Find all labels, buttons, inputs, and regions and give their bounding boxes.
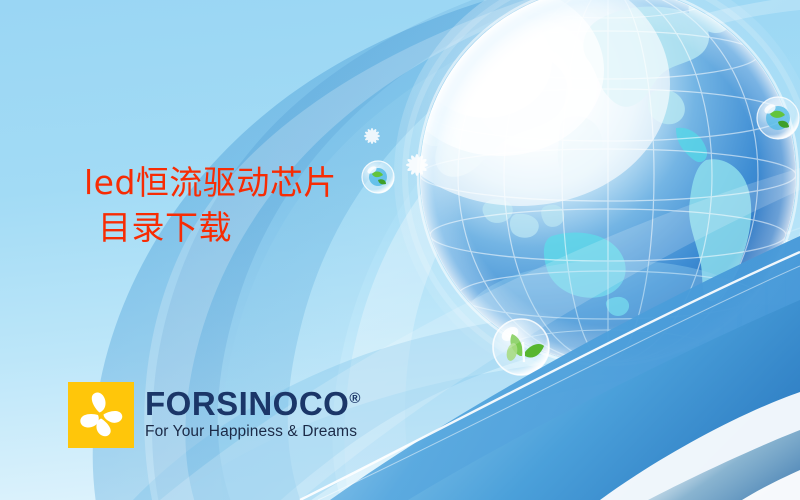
asterisk-flower-icon: [406, 154, 428, 176]
bubble-with-globe-edge: [757, 97, 799, 139]
pinwheel-flower-icon: [68, 382, 134, 448]
bubble-with-globe-small: [362, 161, 394, 193]
logo-text-block: FORSINOCO® For Your Happiness & Dreams: [145, 382, 360, 441]
globe-grid: [420, 0, 796, 370]
promo-banner: led恒流驱动芯片 目录下载 FORSINOCO® For Your Happi…: [0, 0, 800, 500]
headline-line-2: 目录下载: [84, 207, 337, 249]
logo-wordmark: FORSINOCO®: [145, 387, 360, 420]
logo-tagline: For Your Happiness & Dreams: [145, 423, 360, 441]
company-logo[interactable]: FORSINOCO® For Your Happiness & Dreams: [68, 382, 360, 448]
asterisk-flower-icon-small: [364, 128, 380, 144]
bubble-with-leaf-large: [493, 319, 549, 375]
forsinoco-logo-mark: [68, 382, 134, 448]
city-skyline-silhouette: [624, 150, 800, 346]
continents: [419, 0, 751, 316]
world-globe: [370, 0, 800, 389]
light-streaks: [548, 228, 800, 356]
logo-wordmark-text: FORSINOCO: [145, 385, 349, 422]
headline-text: led恒流驱动芯片 目录下载: [84, 162, 337, 249]
headline-line-1: led恒流驱动芯片: [84, 162, 337, 204]
registered-trademark-icon: ®: [349, 390, 360, 407]
